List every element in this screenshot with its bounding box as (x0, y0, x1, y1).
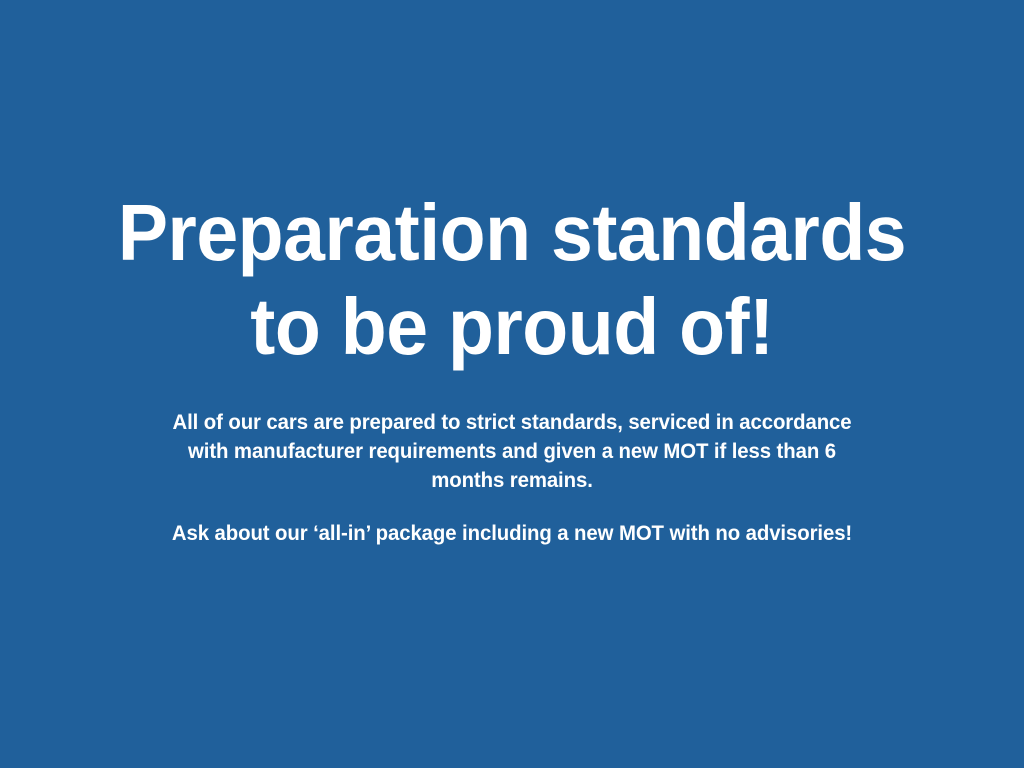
body-paragraph-preparation-line-1: All of our cars are prepared to strict s… (83, 408, 940, 437)
body-paragraph-all-in-offer-line-1: Ask about our ‘all-in’ package including… (83, 519, 940, 548)
page-title-line-1: Preparation standards (70, 186, 954, 280)
page-title: Preparation standards to be proud of! (70, 186, 954, 374)
page-title-line-2: to be proud of! (70, 280, 954, 374)
body-paragraph-preparation: All of our cars are prepared to strict s… (83, 408, 940, 495)
slide-canvas: Preparation standards to be proud of! Al… (0, 0, 1024, 768)
body-paragraph-preparation-line-2: with manufacturer requirements and given… (83, 437, 940, 466)
body-copy: All of our cars are prepared to strict s… (42, 408, 982, 548)
body-paragraph-preparation-line-3: months remains. (83, 466, 940, 495)
body-paragraph-all-in-offer: Ask about our ‘all-in’ package including… (83, 519, 940, 548)
slide-content: Preparation standards to be proud of! Al… (0, 186, 1024, 548)
